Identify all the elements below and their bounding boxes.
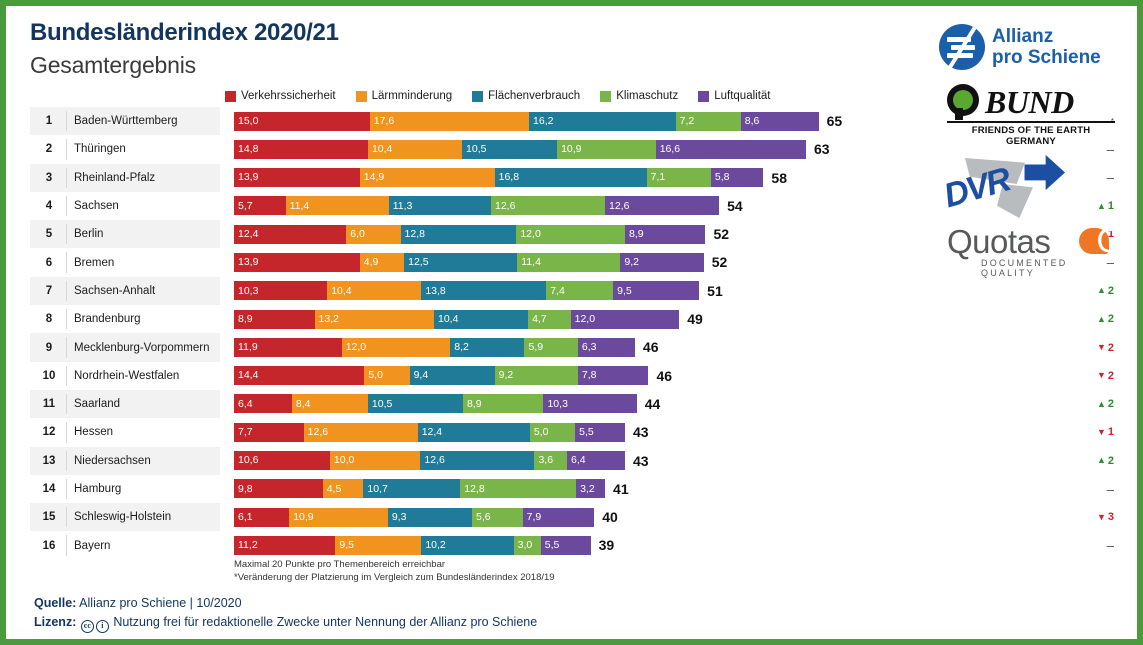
bar-segment-value: 10,2 [421, 540, 445, 551]
bar-segment-value: 5,5 [575, 427, 594, 438]
bar-segment-4: 3,6 [534, 451, 567, 470]
bar-segment-3: 10,2 [421, 536, 513, 555]
bar-segment-value: 12,4 [234, 229, 258, 240]
row-state-label: Mecklenburg-Vorpommern [74, 333, 210, 361]
legend-label: Klimaschutz [616, 90, 678, 102]
allianz-pro-schiene-logo: Allianz pro Schiene [925, 14, 1125, 80]
bar-segment-value: 10,5 [368, 399, 392, 410]
bar-segment-value: 14,4 [234, 370, 258, 381]
bar-segment-2: 10,0 [330, 451, 421, 470]
bar-segment-2: 10,4 [327, 281, 421, 300]
bar-segment-value: 7,8 [578, 370, 597, 381]
bar-segment-4: 3,0 [514, 536, 541, 555]
footnote-max-points: Maximal 20 Punkte pro Themenbereich erre… [234, 558, 555, 571]
bar-segment-value: 11,4 [286, 201, 310, 212]
stacked-bar: 10,310,413,87,49,5 [234, 281, 699, 300]
quotas-q-letter: Q [1097, 222, 1123, 260]
allianz-pro-schiene-mark-icon [939, 24, 985, 70]
bar-segment-5: 9,2 [620, 253, 703, 272]
row-total-value: 51 [699, 280, 723, 302]
row-total-value: 40 [594, 506, 618, 528]
rank-divider [66, 139, 67, 159]
chart-row: 14Hamburg–9,84,510,712,83,241 [30, 475, 1120, 503]
rank-divider [66, 281, 67, 301]
bar-segment-4: 5,0 [530, 423, 575, 442]
rank-divider [66, 535, 67, 555]
chart-row: 11Saarland▲26,48,410,58,910,344 [30, 390, 1120, 418]
bar-segment-value: 10,9 [289, 512, 313, 523]
row-rank: 16 [38, 531, 60, 559]
rank-divider [66, 252, 67, 272]
quotas-logo: Quotas DOCUMENTED QUALITY Q [925, 224, 1125, 280]
row-state-label: Nordrhein-Westfalen [74, 362, 179, 390]
bar-segment-value: 3,2 [576, 484, 595, 495]
bar-segment-4: 12,8 [460, 479, 576, 498]
bar-segment-value: 12,6 [420, 455, 444, 466]
bund-top: BUND [947, 84, 1125, 120]
bar-segment-value: 10,9 [557, 144, 581, 155]
row-state-label: Brandenburg [74, 305, 141, 333]
bar-segment-1: 10,3 [234, 281, 327, 300]
bar-segment-value: 10,7 [363, 484, 387, 495]
chart-row: 10Nordrhein-Westfalen▼214,45,09,49,27,84… [30, 362, 1120, 390]
license-line: Lizenz: cci Nutzung frei für redaktionel… [34, 613, 537, 633]
legend-label: Lärmminderung [372, 90, 453, 102]
quotas-q-icon: Q [1079, 224, 1123, 262]
rank-divider [66, 224, 67, 244]
bund-wordmark: BUND [985, 86, 1074, 118]
bund-tagline: FRIENDS OF THE EARTH GERMANY [947, 125, 1115, 147]
bar-segment-value: 17,6 [370, 116, 394, 127]
license-text: Nutzung frei für redaktionelle Zwecke un… [113, 615, 537, 629]
bar-segment-value: 6,4 [567, 455, 586, 466]
chart-row: 8Brandenburg▲28,913,210,44,712,049 [30, 305, 1120, 333]
bar-segment-value: 6,1 [234, 512, 253, 523]
legend-label: Verkehrssicherheit [241, 90, 336, 102]
row-state-label: Sachsen [74, 192, 119, 220]
row-rank-change: ▲2 [1074, 305, 1114, 333]
bar-segment-value: 7,7 [234, 427, 253, 438]
bar-segment-3: 10,5 [368, 394, 463, 413]
bar-segment-value: 11,9 [234, 342, 258, 353]
row-total-value: 52 [706, 223, 730, 245]
bar-segment-5: 5,5 [575, 423, 625, 442]
triangle-up-icon: ▲ [1097, 315, 1106, 324]
bar-segment-value: 8,9 [234, 314, 253, 325]
legend-swatch-icon [225, 91, 236, 102]
page-subtitle: Gesamtergebnis [30, 50, 339, 80]
bar-segment-3: 12,6 [420, 451, 534, 470]
bar-segment-2: 10,4 [368, 140, 462, 159]
legend-item-2: Lärmminderung [356, 90, 453, 102]
bar-segment-value: 12,6 [491, 201, 515, 212]
bar-segment-2: 12,0 [342, 338, 451, 357]
bar-segment-value: 5,5 [541, 540, 560, 551]
stacked-bar: 6,110,99,35,67,9 [234, 508, 594, 527]
bar-segment-3: 16,2 [529, 112, 676, 131]
row-rank: 8 [38, 305, 60, 333]
stacked-bar: 11,912,08,25,96,3 [234, 338, 635, 357]
bund-circle-icon [947, 84, 981, 120]
bar-segment-value: 11,2 [234, 540, 258, 551]
bar-segment-value: 5,0 [530, 427, 549, 438]
bar-segment-1: 13,9 [234, 168, 360, 187]
legend-swatch-icon [600, 91, 611, 102]
rank-divider [66, 337, 67, 357]
bar-segment-5: 7,8 [578, 366, 649, 385]
bar-segment-value: 16,2 [529, 116, 553, 127]
row-state-label: Bremen [74, 248, 114, 276]
bar-segment-4: 10,9 [557, 140, 656, 159]
stacked-bar: 7,712,612,45,05,5 [234, 423, 625, 442]
stacked-bar: 8,913,210,44,712,0 [234, 310, 679, 329]
row-total-value: 49 [679, 308, 703, 330]
bar-segment-value: 8,6 [741, 116, 760, 127]
bar-segment-5: 9,5 [613, 281, 699, 300]
bund-logo: BUND FRIENDS OF THE EARTH GERMANY [925, 80, 1125, 152]
row-total-value: 58 [763, 167, 787, 189]
bar-segment-1: 11,2 [234, 536, 335, 555]
bar-segment-value: 12,5 [404, 257, 428, 268]
bar-segment-value: 12,8 [401, 229, 425, 240]
bar-segment-3: 12,8 [401, 225, 517, 244]
bar-segment-5: 5,8 [711, 168, 763, 187]
bar-segment-1: 8,9 [234, 310, 315, 329]
row-state-label: Thüringen [74, 135, 126, 163]
rank-divider [66, 309, 67, 329]
row-rank-change: ▼3 [1074, 503, 1114, 531]
stacked-bar: 14,810,410,510,916,6 [234, 140, 806, 159]
bar-segment-5: 8,9 [625, 225, 706, 244]
row-total-value: 54 [719, 195, 743, 217]
source-text: Allianz pro Schiene | 10/2020 [79, 596, 241, 610]
rank-divider [66, 366, 67, 386]
row-total-value: 46 [635, 336, 659, 358]
bar-segment-2: 6,0 [346, 225, 400, 244]
source-label: Quelle: [34, 596, 76, 610]
rank-change-value: 2 [1108, 455, 1114, 467]
chart-row: 16Bayern–11,29,510,23,05,539 [30, 531, 1120, 559]
row-total-value: 52 [704, 251, 728, 273]
bar-segment-value: 5,9 [524, 342, 543, 353]
bar-segment-value: 13,8 [421, 286, 445, 297]
page-title: Bundesländerindex 2020/21 [30, 18, 339, 48]
stacked-bar: 9,84,510,712,83,2 [234, 479, 605, 498]
bar-segment-1: 6,1 [234, 508, 289, 527]
bar-segment-value: 13,2 [315, 314, 339, 325]
row-state-label: Bayern [74, 531, 110, 559]
triangle-down-icon: ▼ [1097, 428, 1106, 437]
bar-segment-value: 15,0 [234, 116, 258, 127]
row-rank: 7 [38, 277, 60, 305]
triangle-up-icon: ▲ [1097, 400, 1106, 409]
bar-segment-value: 12,0 [516, 229, 540, 240]
bar-segment-value: 12,0 [571, 314, 595, 325]
bar-segment-3: 13,8 [421, 281, 546, 300]
bar-segment-3: 10,5 [462, 140, 557, 159]
chart-row: 7Sachsen-Anhalt▲210,310,413,87,49,551 [30, 277, 1120, 305]
bar-segment-value: 12,0 [342, 342, 366, 353]
bar-segment-value: 6,0 [346, 229, 365, 240]
bar-segment-value: 3,6 [534, 455, 553, 466]
rank-divider [66, 507, 67, 527]
bar-segment-2: 12,6 [304, 423, 418, 442]
rank-divider [66, 394, 67, 414]
bar-segment-4: 5,6 [472, 508, 523, 527]
bar-segment-value: 10,3 [543, 399, 567, 410]
bar-segment-4: 7,2 [676, 112, 741, 131]
allianz-line2: pro Schiene [992, 47, 1101, 68]
bar-segment-value: 12,4 [418, 427, 442, 438]
legend-item-1: Verkehrssicherheit [225, 90, 336, 102]
row-rank: 3 [38, 164, 60, 192]
rank-change-value: 2 [1108, 313, 1114, 325]
row-state-label: Sachsen-Anhalt [74, 277, 155, 305]
bar-segment-4: 12,6 [491, 196, 605, 215]
bar-segment-value: 11,4 [517, 257, 541, 268]
row-total-value: 65 [819, 110, 843, 132]
bar-segment-3: 9,4 [410, 366, 495, 385]
rank-divider [66, 479, 67, 499]
bar-segment-1: 12,4 [234, 225, 346, 244]
title-block: Bundesländerindex 2020/21 Gesamtergebnis [30, 18, 339, 80]
bar-segment-1: 7,7 [234, 423, 304, 442]
bar-segment-value: 7,2 [676, 116, 695, 127]
bar-segment-5: 7,9 [523, 508, 594, 527]
bar-segment-value: 6,4 [234, 399, 253, 410]
bar-segment-value: 7,1 [647, 172, 666, 183]
row-state-label: Baden-Württemberg [74, 107, 178, 135]
bar-segment-value: 10,4 [368, 144, 392, 155]
row-state-label: Niedersachsen [74, 447, 151, 475]
legend-label: Luftqualität [714, 90, 770, 102]
row-rank-change: ▲2 [1074, 277, 1114, 305]
bar-segment-4: 9,2 [495, 366, 578, 385]
bar-segment-value: 10,4 [434, 314, 458, 325]
bar-segment-2: 9,5 [335, 536, 421, 555]
bar-segment-5: 5,5 [541, 536, 591, 555]
row-total-value: 43 [625, 450, 649, 472]
bar-segment-value: 10,5 [462, 144, 486, 155]
bar-segment-value: 9,4 [410, 370, 429, 381]
bar-segment-value: 7,9 [523, 512, 542, 523]
bar-segment-4: 7,4 [546, 281, 613, 300]
bar-segment-1: 11,9 [234, 338, 342, 357]
rank-divider [66, 451, 67, 471]
bar-segment-1: 5,7 [234, 196, 286, 215]
bar-segment-5: 8,6 [741, 112, 819, 131]
stacked-bar: 15,017,616,27,28,6 [234, 112, 819, 131]
triangle-down-icon: ▼ [1097, 371, 1106, 380]
chart-row: 13Niedersachsen▲210,610,012,63,66,443 [30, 447, 1120, 475]
stacked-bar: 13,94,912,511,49,2 [234, 253, 704, 272]
bar-segment-value: 8,9 [625, 229, 644, 240]
rank-divider [66, 168, 67, 188]
rank-divider [66, 111, 67, 131]
bar-segment-5: 12,0 [571, 310, 680, 329]
triangle-up-icon: ▲ [1097, 286, 1106, 295]
row-rank-change: – [1074, 531, 1114, 559]
triangle-down-icon: ▼ [1097, 343, 1106, 352]
bar-segment-2: 8,4 [292, 394, 368, 413]
bar-segment-1: 9,8 [234, 479, 323, 498]
logo-column: Allianz pro Schiene BUND FRIENDS OF THE … [925, 14, 1125, 280]
bar-segment-1: 13,9 [234, 253, 360, 272]
row-rank: 4 [38, 192, 60, 220]
bar-segment-value: 9,2 [620, 257, 639, 268]
bar-segment-value: 9,5 [335, 540, 354, 551]
dvr-logo: DVR [925, 152, 1125, 224]
bar-segment-5: 6,3 [578, 338, 635, 357]
bar-segment-value: 10,0 [330, 455, 354, 466]
bar-segment-3: 9,3 [388, 508, 472, 527]
bar-segment-value: 11,3 [389, 201, 413, 212]
bar-segment-value: 12,6 [304, 427, 328, 438]
bar-segment-4: 11,4 [517, 253, 620, 272]
chart-row: 9Mecklenburg-Vorpommern▼211,912,08,25,96… [30, 333, 1120, 361]
bar-segment-5: 10,3 [543, 394, 636, 413]
row-rank: 9 [38, 333, 60, 361]
stacked-bar: 5,711,411,312,612,6 [234, 196, 719, 215]
bund-divider [947, 121, 1115, 123]
bar-segment-2: 4,5 [323, 479, 364, 498]
license-label: Lizenz: [34, 615, 76, 629]
bar-segment-2: 13,2 [315, 310, 434, 329]
footnote-rank-change: *Veränderung der Platzierung im Vergleic… [234, 571, 555, 584]
chart-legend: VerkehrssicherheitLärmminderungFlächenve… [225, 90, 770, 102]
bar-segment-value: 13,9 [234, 257, 258, 268]
rank-divider [66, 422, 67, 442]
legend-label: Flächenverbrauch [488, 90, 580, 102]
row-rank-change: ▼2 [1074, 333, 1114, 361]
row-total-value: 41 [605, 478, 629, 500]
stacked-bar: 10,610,012,63,66,4 [234, 451, 625, 470]
row-rank-change: – [1074, 475, 1114, 503]
row-rank-change: ▼1 [1074, 418, 1114, 446]
row-state-label: Schleswig-Holstein [74, 503, 171, 531]
rank-divider [66, 196, 67, 216]
allianz-line1: Allianz [992, 26, 1101, 47]
bar-segment-4: 8,9 [463, 394, 544, 413]
chart-row: 12Hessen▼17,712,612,45,05,543 [30, 418, 1120, 446]
rank-change-value: 2 [1108, 285, 1114, 297]
row-rank-change: ▼2 [1074, 362, 1114, 390]
bar-segment-3: 10,4 [434, 310, 528, 329]
rank-change-value: 2 [1108, 342, 1114, 354]
bar-segment-5: 16,6 [656, 140, 806, 159]
bar-segment-value: 12,8 [460, 484, 484, 495]
row-state-label: Berlin [74, 220, 103, 248]
bar-segment-1: 14,8 [234, 140, 368, 159]
bar-segment-3: 11,3 [389, 196, 491, 215]
bar-segment-3: 8,2 [450, 338, 524, 357]
legend-swatch-icon [472, 91, 483, 102]
bar-segment-3: 12,5 [404, 253, 517, 272]
bar-segment-value: 14,9 [360, 172, 384, 183]
row-rank-change: ▲2 [1074, 390, 1114, 418]
triangle-down-icon: ▼ [1097, 513, 1106, 522]
bar-segment-value: 14,8 [234, 144, 258, 155]
bar-segment-2: 11,4 [286, 196, 389, 215]
bar-segment-1: 6,4 [234, 394, 292, 413]
bar-segment-2: 10,9 [289, 508, 388, 527]
bar-segment-value: 9,5 [613, 286, 632, 297]
rank-change-value: 1 [1108, 426, 1114, 438]
bar-segment-3: 16,8 [495, 168, 647, 187]
bar-segment-value: 9,2 [495, 370, 514, 381]
bar-segment-5: 3,2 [576, 479, 605, 498]
row-rank: 11 [38, 390, 60, 418]
bar-segment-value: 5,7 [234, 201, 253, 212]
row-rank: 12 [38, 418, 60, 446]
bar-segment-2: 17,6 [370, 112, 529, 131]
rank-change-value: 3 [1108, 511, 1114, 523]
legend-item-5: Luftqualität [698, 90, 770, 102]
legend-swatch-icon [698, 91, 709, 102]
row-rank: 6 [38, 248, 60, 276]
bar-segment-4: 12,0 [516, 225, 625, 244]
bar-segment-value: 3,0 [514, 540, 533, 551]
row-rank: 1 [38, 107, 60, 135]
bar-segment-2: 14,9 [360, 168, 495, 187]
source-license-block: Quelle: Allianz pro Schiene | 10/2020 Li… [34, 594, 537, 633]
rank-change-value: – [1107, 538, 1114, 553]
bar-segment-1: 10,6 [234, 451, 330, 470]
legend-item-3: Flächenverbrauch [472, 90, 580, 102]
row-rank: 13 [38, 447, 60, 475]
bar-segment-4: 4,7 [528, 310, 571, 329]
legend-swatch-icon [356, 91, 367, 102]
bar-segment-1: 14,4 [234, 366, 364, 385]
bar-segment-value: 5,0 [364, 370, 383, 381]
row-state-label: Hessen [74, 418, 113, 446]
bar-segment-value: 10,4 [327, 286, 351, 297]
row-total-value: 43 [625, 421, 649, 443]
cc-by-attribution-icon: i [96, 620, 109, 633]
source-line: Quelle: Allianz pro Schiene | 10/2020 [34, 594, 537, 613]
row-rank-change: ▲2 [1074, 447, 1114, 475]
bar-segment-2: 4,9 [360, 253, 404, 272]
bar-segment-value: 12,6 [605, 201, 629, 212]
bar-segment-value: 8,9 [463, 399, 482, 410]
bar-segment-value: 10,6 [234, 455, 258, 466]
bar-segment-value: 9,3 [388, 512, 407, 523]
row-total-value: 46 [648, 365, 672, 387]
bar-segment-3: 10,7 [363, 479, 460, 498]
bar-segment-value: 9,8 [234, 484, 253, 495]
bar-segment-4: 5,9 [524, 338, 577, 357]
bar-segment-5: 6,4 [567, 451, 625, 470]
bar-segment-value: 16,6 [656, 144, 680, 155]
rank-change-value: – [1107, 482, 1114, 497]
bar-segment-value: 6,3 [578, 342, 597, 353]
stacked-bar: 11,29,510,23,05,5 [234, 536, 591, 555]
row-rank: 5 [38, 220, 60, 248]
rank-change-value: 2 [1108, 398, 1114, 410]
row-state-label: Hamburg [74, 475, 121, 503]
stacked-bar: 13,914,916,87,15,8 [234, 168, 763, 187]
stacked-bar: 6,48,410,58,910,3 [234, 394, 637, 413]
bar-segment-2: 5,0 [364, 366, 409, 385]
rank-change-value: 2 [1108, 370, 1114, 382]
row-total-value: 44 [637, 393, 661, 415]
row-rank: 10 [38, 362, 60, 390]
chart-footnotes: Maximal 20 Punkte pro Themenbereich erre… [234, 558, 555, 584]
row-rank: 14 [38, 475, 60, 503]
triangle-up-icon: ▲ [1097, 456, 1106, 465]
row-state-label: Saarland [74, 390, 120, 418]
row-total-value: 39 [591, 534, 615, 556]
